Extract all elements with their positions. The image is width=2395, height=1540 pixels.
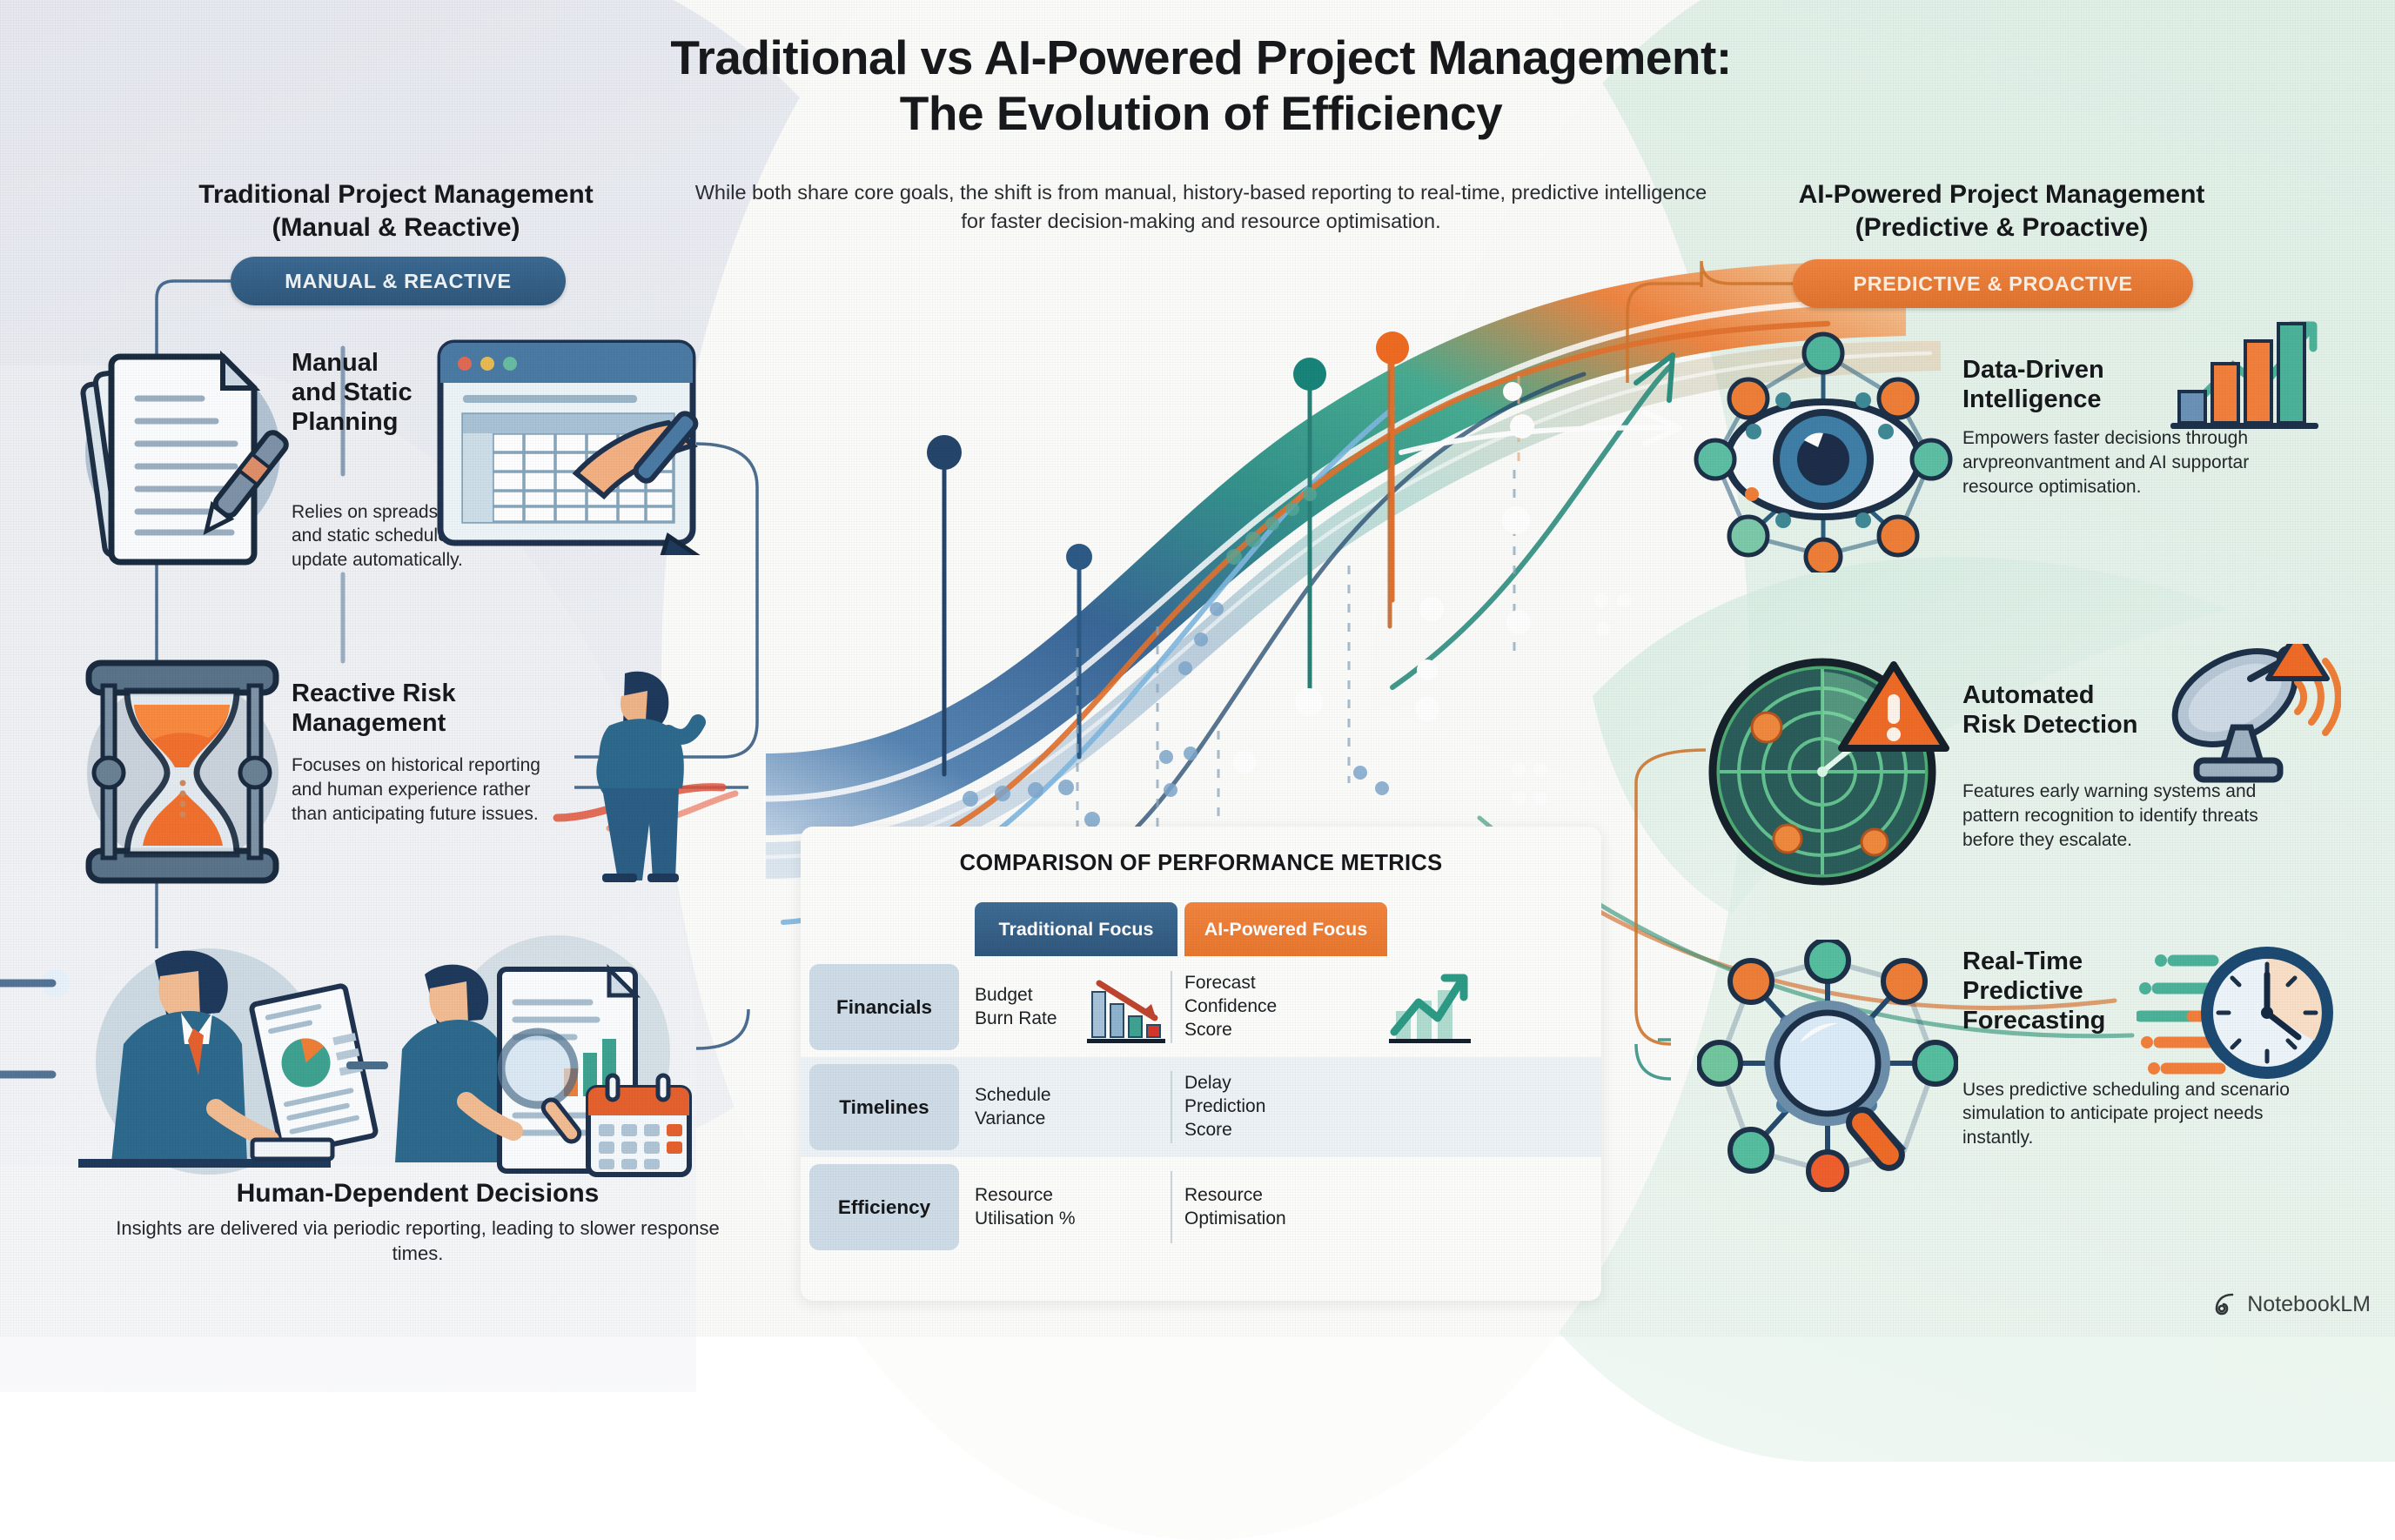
- declining-bar-chart-icon: [1083, 971, 1171, 1046]
- left-heading-line-2: (Manual & Reactive): [122, 211, 670, 244]
- notebooklm-watermark: NotebookLM: [2213, 1291, 2371, 1317]
- reporting-people-icon: [70, 922, 696, 1183]
- left-feature-2-body: Focuses on historical reporting and huma…: [292, 753, 544, 826]
- left-bottom-caption-title: Human-Dependent Decisions: [113, 1179, 722, 1209]
- spreadsheet-hand-icon: [435, 338, 705, 555]
- right-feature-3-body: Uses predictive scheduling and scenario …: [1962, 1078, 2293, 1150]
- left-feature-reactive-risk-management: Reactive Risk Management Focuses on hist…: [292, 679, 561, 827]
- neural-eye-icon: [1693, 320, 1954, 572]
- comparison-table: COMPARISON OF PERFORMANCE METRICS Tradit…: [801, 827, 1601, 1301]
- left-bottom-caption-body: Insights are delivered via periodic repo…: [113, 1215, 722, 1267]
- right-feature-3-title: Real-Time Predictive Forecasting: [1962, 947, 2311, 1036]
- radar-alert-icon: [1695, 654, 1956, 889]
- right-badge-predictive-proactive[interactable]: PREDICTIVE & PROACTIVE: [1793, 259, 2193, 308]
- table-row: Efficiency Resource Utilisation % Resour…: [801, 1157, 1601, 1257]
- notebooklm-logo-icon: [2213, 1291, 2239, 1317]
- left-heading-line-1: Traditional Project Management: [122, 178, 670, 211]
- right-feature-1-body: Empowers faster decisions through arvpre…: [1962, 426, 2284, 499]
- comparison-table-title: COMPARISON OF PERFORMANCE METRICS: [801, 851, 1601, 876]
- page-subtitle: While both share core goals, the shift i…: [688, 178, 1714, 237]
- column-header-traditional-focus: Traditional Focus: [975, 902, 1177, 956]
- column-header-ai-focus: AI-Powered Focus: [1184, 902, 1387, 956]
- hourglass-icon: [61, 651, 305, 894]
- row-label-efficiency: Efficiency: [809, 1164, 959, 1250]
- left-feature-2-title: Reactive Risk Management: [292, 679, 561, 738]
- satellite-dish-icon: [2167, 644, 2341, 800]
- cell-timelines-ai: Delay Prediction Score: [1184, 1057, 1376, 1157]
- notebooklm-label: NotebookLM: [2247, 1292, 2371, 1317]
- title-line-2: The Evolution of Efficiency: [487, 85, 1915, 141]
- cell-timelines-traditional: Schedule Variance: [975, 1057, 1175, 1157]
- infographic-canvas: Traditional vs AI-Powered Project Manage…: [0, 0, 2395, 1336]
- right-heading-line-1: AI-Powered Project Management: [1741, 178, 2263, 211]
- table-row: Timelines Schedule Variance Delay Predic…: [801, 1057, 1601, 1157]
- cell-efficiency-traditional: Resource Utilisation %: [975, 1157, 1175, 1257]
- thinking-person-icon: [557, 661, 714, 887]
- rising-bar-chart-icon: [1385, 968, 1477, 1048]
- document-pen-icon: [61, 331, 305, 574]
- table-row: Financials Budget Burn Rate Forecast Con…: [801, 957, 1601, 1057]
- page-title: Traditional vs AI-Powered Project Manage…: [487, 30, 1915, 142]
- left-badge-manual-reactive[interactable]: MANUAL & REACTIVE: [231, 257, 566, 305]
- left-column-heading: Traditional Project Management (Manual &…: [122, 178, 670, 244]
- right-column-heading: AI-Powered Project Management (Predictiv…: [1741, 178, 2263, 244]
- title-line-1: Traditional vs AI-Powered Project Manage…: [487, 30, 1915, 85]
- cell-efficiency-ai: Resource Optimisation: [1184, 1157, 1376, 1257]
- growth-bar-chart-icon: [2158, 311, 2332, 433]
- right-heading-line-2: (Predictive & Proactive): [1741, 211, 2263, 244]
- left-bottom-caption: Human-Dependent Decisions Insights are d…: [113, 1179, 722, 1267]
- right-feature-realtime-predictive-forecasting: Real-Time Predictive Forecasting Uses pr…: [1962, 947, 2311, 1150]
- row-label-timelines: Timelines: [809, 1064, 959, 1150]
- row-label-financials: Financials: [809, 964, 959, 1050]
- cell-financials-ai: Forecast Confidence Score: [1184, 957, 1376, 1057]
- network-magnifier-icon: [1697, 940, 1958, 1192]
